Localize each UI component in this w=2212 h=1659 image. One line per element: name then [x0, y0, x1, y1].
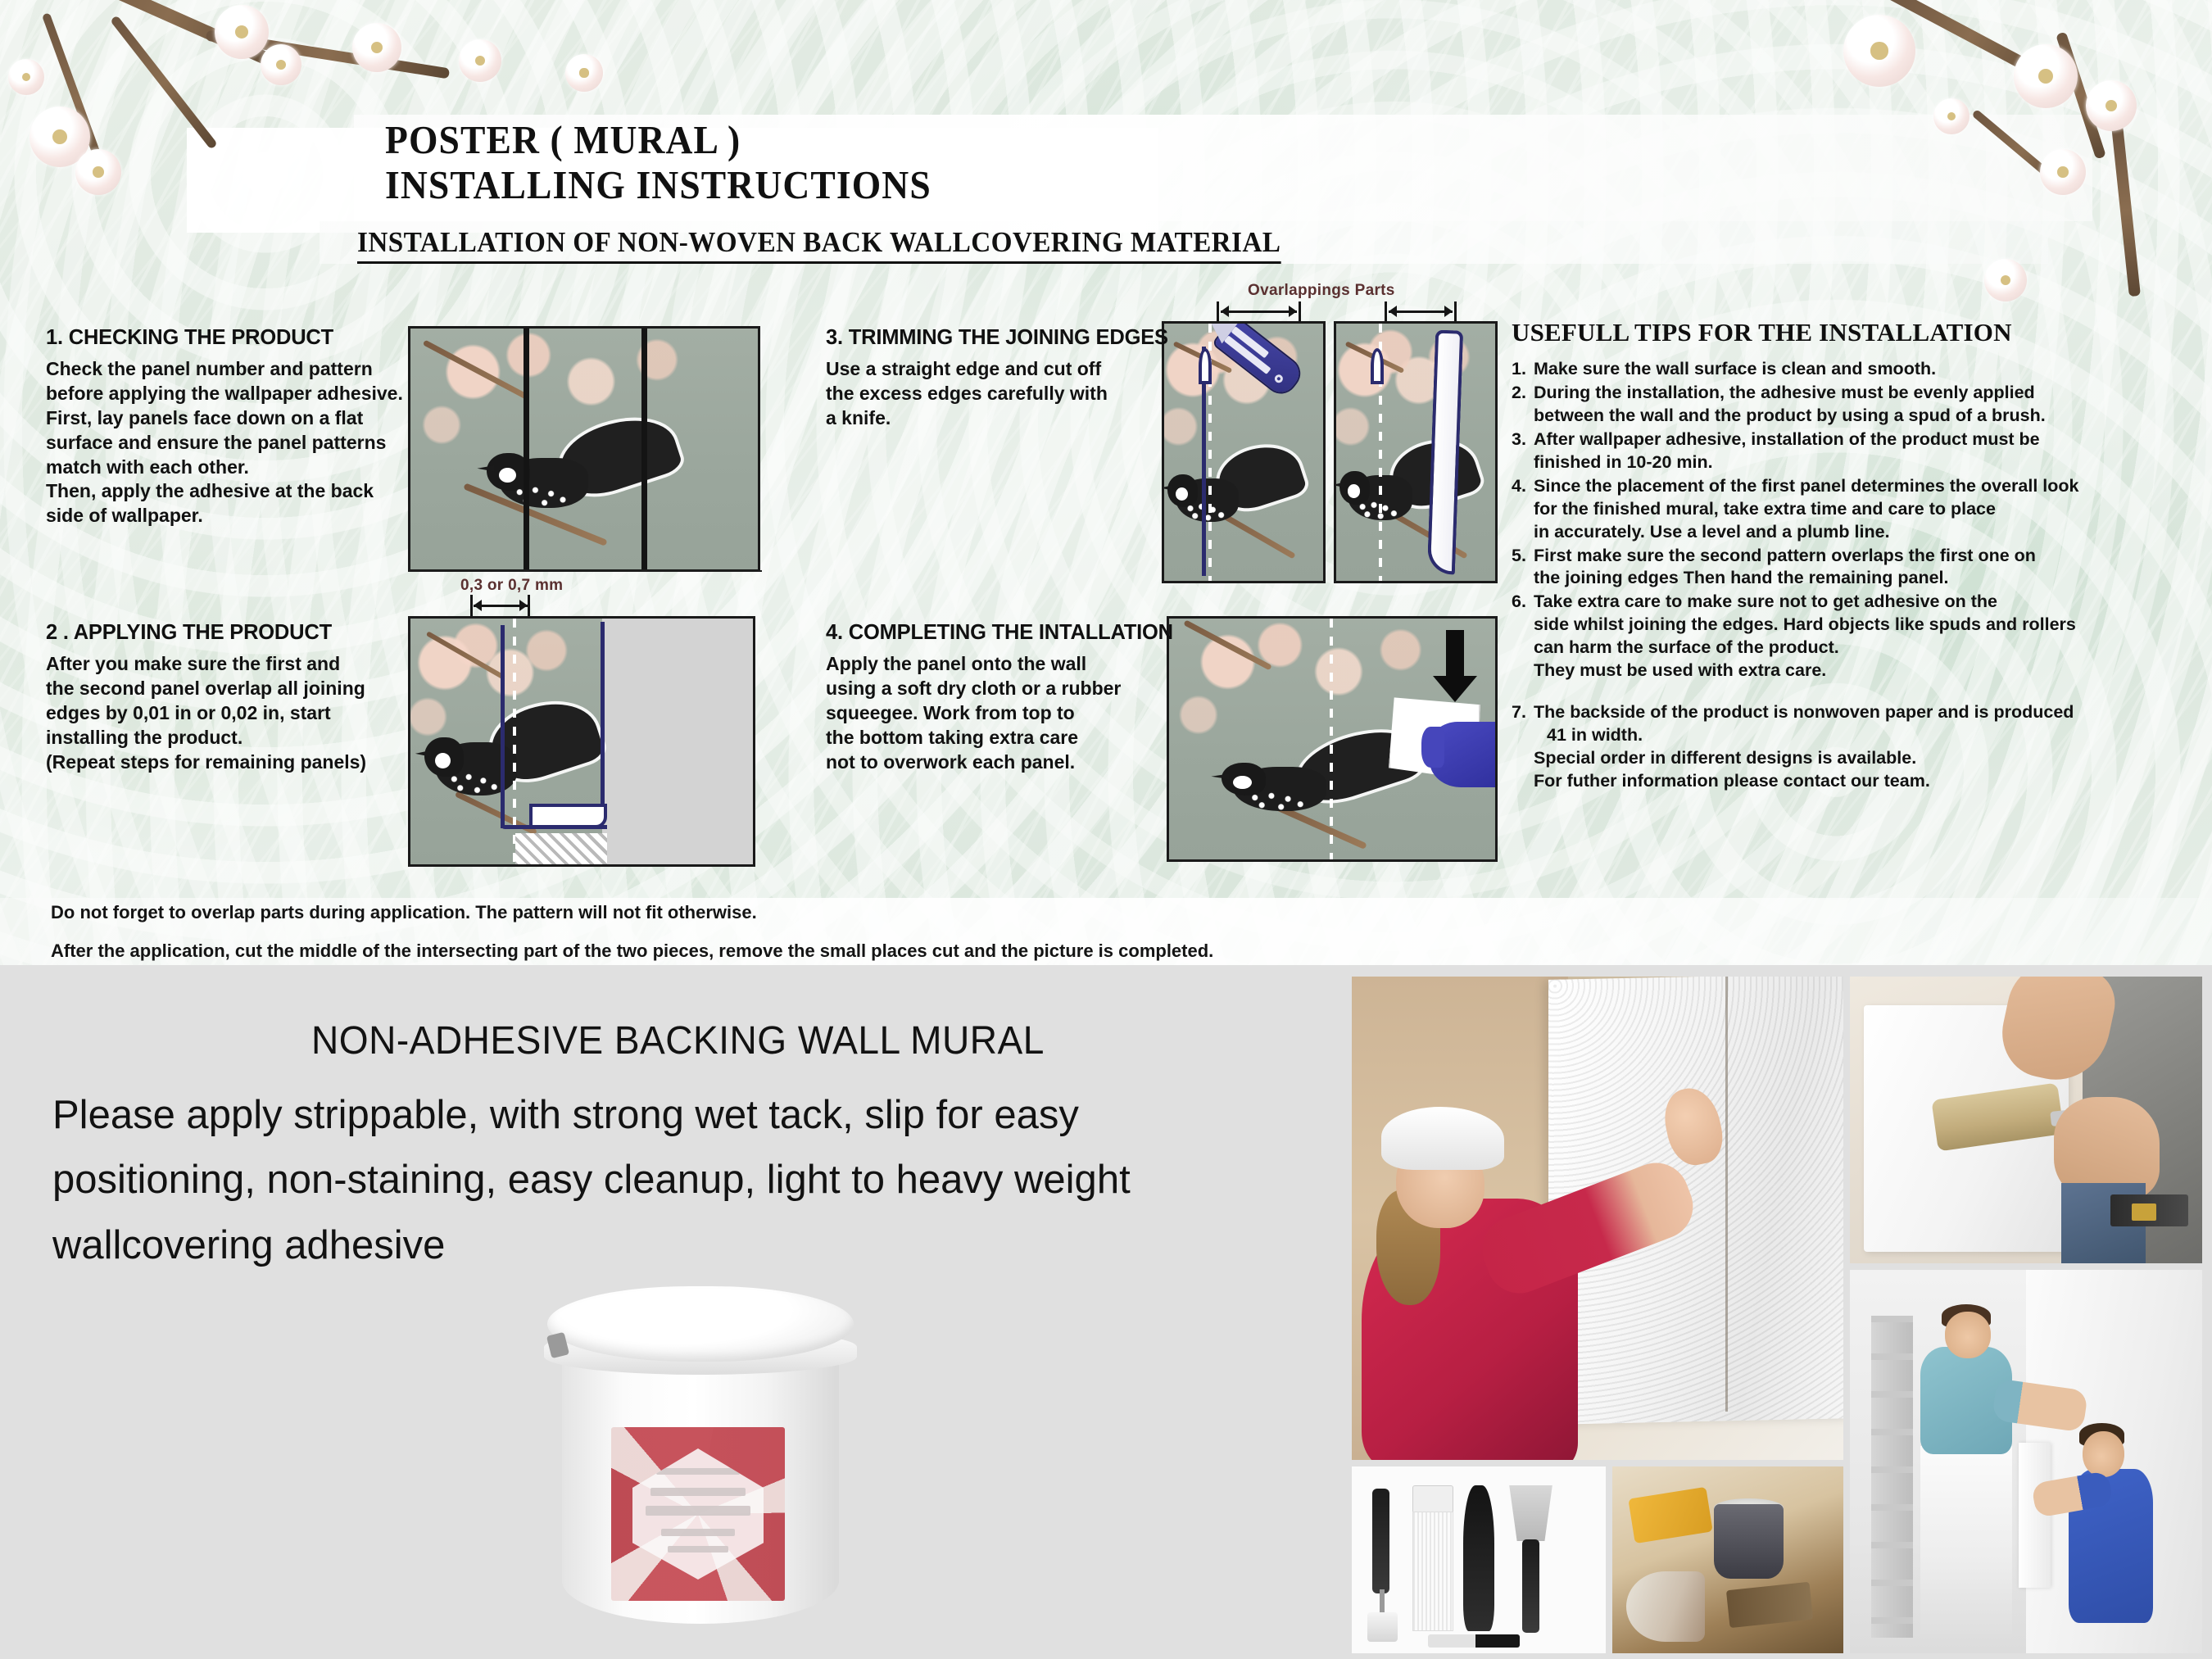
tip-5-line-2: the joining edges Then hand the remainin…: [1534, 567, 2036, 590]
tip-7-text: The backside of the product is nonwoven …: [1534, 701, 2074, 793]
hatching-area: [515, 833, 607, 866]
tip-7-line-4: For futher information please contact ou…: [1534, 770, 2074, 793]
tip-5-line-1: First make sure the second pattern overl…: [1534, 545, 2036, 568]
step-1-line-6: Then, apply the adhesive at the back: [46, 479, 403, 504]
ruler-top-curve-a: [1199, 348, 1212, 384]
step-1-block: 1. CHECKING THE PRODUCT Check the panel …: [46, 326, 403, 528]
bucket-lid: [547, 1286, 854, 1362]
step-4-body: Apply the panel onto the wall using a so…: [826, 652, 1173, 774]
step-1-line-7: side of wallpaper.: [46, 504, 403, 528]
overlap-tick-b: [1299, 301, 1301, 321]
cut-dash-line-4: [1330, 619, 1333, 859]
tip-1-text: Make sure the wall surface is clean and …: [1534, 358, 1936, 381]
title-line-2: INSTALLING INSTRUCTIONS: [385, 163, 931, 208]
step-3-diagram-straightedge: [1334, 321, 1498, 583]
step-4-title: 4. COMPLETING THE INTALLATION: [826, 621, 1173, 645]
tip-4-line-3: in accurately. Use a level and a plumb l…: [1534, 521, 2078, 544]
photo-man-and-boy-hanging-wallpaper: [1850, 1270, 2202, 1653]
overlap-outline-right: [601, 622, 605, 804]
overlap-lip: [529, 804, 607, 828]
step-2-block: 2 . APPLYING THE PRODUCT After you make …: [46, 621, 366, 774]
step-4-line-2: using a soft dry cloth or a rubber: [826, 677, 1173, 701]
tip-6-line-3: can harm the surface of the product.: [1534, 637, 2076, 660]
tip-item-1: 1. Make sure the wall surface is clean a…: [1512, 358, 2167, 381]
step-4-line-5: not to overwork each panel.: [826, 750, 1173, 775]
step-2-title: 2 . APPLYING THE PRODUCT: [46, 621, 366, 645]
title-line-1: POSTER ( MURAL ): [385, 118, 931, 163]
installation-poster: POSTER ( MURAL ) INSTALLING INSTRUCTIONS…: [0, 0, 2212, 1659]
tip-3-text: After wallpaper adhesive, installation o…: [1534, 428, 2040, 474]
tip-6-line-1: Take extra care to make sure not to get …: [1534, 591, 2076, 614]
seam-roller-icon: [1372, 1489, 1390, 1593]
step-1-title: 1. CHECKING THE PRODUCT: [46, 326, 403, 350]
adhesive-bucket-image: [541, 1286, 860, 1630]
seam-roller-wheel: [1367, 1612, 1398, 1642]
step-3-line-3: a knife.: [826, 406, 1168, 431]
tip-4-line-2: for the finished mural, take extra time …: [1534, 498, 2078, 521]
measure-tick-left: [470, 595, 473, 616]
step-3-body: Use a straight edge and cut off the exce…: [826, 357, 1168, 431]
plastic-smoother-icon: [1463, 1485, 1494, 1631]
smoothing-brush-bristles: [1412, 1512, 1453, 1631]
down-arrow-icon: [1446, 630, 1464, 681]
step-3-title: 3. TRIMMING THE JOINING EDGES: [826, 326, 1168, 350]
bird-artwork-3: [1167, 442, 1304, 550]
step-1-line-3: First, lay panels face down on a flat: [46, 406, 403, 431]
overlap-tick-d: [1454, 301, 1457, 321]
snap-off-knife-icon: [1428, 1634, 1520, 1648]
tip-6-text: Take extra care to make sure not to get …: [1534, 591, 2076, 682]
glove-thumb: [1421, 727, 1444, 768]
step-4-block: 4. COMPLETING THE INTALLATION Apply the …: [826, 621, 1173, 774]
tip-7-line-2: 41 in width.: [1534, 724, 2074, 747]
footnote-2: After the application, cut the middle of…: [51, 941, 1213, 962]
tip-5-number: 5.: [1512, 545, 1534, 591]
photo-roller-applying-adhesive: [1850, 977, 2202, 1263]
measure-arrow: [474, 605, 528, 607]
step-3-block: 3. TRIMMING THE JOINING EDGES Use a stra…: [826, 326, 1168, 431]
poster-subtitle: INSTALLATION OF NON-WOVEN BACK WALLCOVER…: [357, 226, 1281, 264]
step-1-line-1: Check the panel number and pattern: [46, 357, 403, 382]
step-2-line-5: (Repeat steps for remaining panels): [46, 750, 366, 775]
overlap-measure-label: 0,3 or 0,7 mm: [460, 577, 563, 595]
bottom-heading: NON-ADHESIVE BACKING WALL MURAL: [311, 1018, 1045, 1063]
bird-artwork: [487, 415, 681, 541]
overlapping-parts-label: Ovarlappings Parts: [1248, 282, 1395, 300]
tip-4-text: Since the placement of the first panel d…: [1534, 475, 2078, 544]
photo-woman-hanging-wallpaper: [1352, 977, 1843, 1460]
tip-1-number: 1.: [1512, 358, 1534, 381]
measure-baseline: [410, 570, 762, 572]
tip-3-number: 3.: [1512, 428, 1534, 474]
step-4-diagram-squeegee: [1167, 616, 1498, 862]
tip-6-number: 6.: [1512, 591, 1534, 682]
useful-tips-panel: USEFULL TIPS FOR THE INSTALLATION 1. Mak…: [1512, 318, 2167, 794]
photo-tools-on-table: [1612, 1466, 1843, 1653]
step-3-diagram-knife: [1162, 321, 1326, 583]
step-1-diagram-panels: [408, 326, 760, 572]
tip-3-line-1: After wallpaper adhesive, installation o…: [1534, 428, 2040, 451]
tip-4-number: 4.: [1512, 475, 1534, 544]
step-2-line-3: edges by 0,01 in or 0,02 in, start: [46, 701, 366, 726]
panel-divider-1: [524, 329, 529, 569]
tip-4-line-1: Since the placement of the first panel d…: [1534, 475, 2078, 498]
bottom-para-line-2: positioning, non-staining, easy cleanup,…: [52, 1148, 1330, 1213]
step-1-line-4: surface and ensure the panel patterns: [46, 431, 403, 456]
overlap-tick-a: [1217, 301, 1219, 321]
step-3-line-2: the excess edges carefully with: [826, 382, 1168, 406]
overlap-outline-vertical: [501, 625, 505, 828]
down-arrow-head: [1433, 676, 1477, 702]
bottom-paragraph: Please apply strippable, with strong wet…: [52, 1083, 1330, 1278]
tip-item-7: 7. The backside of the product is nonwov…: [1512, 701, 2167, 793]
step-2-body: After you make sure the first and the se…: [46, 652, 366, 774]
tip-item-4: 4. Since the placement of the first pane…: [1512, 475, 2167, 544]
putty-knife-blade: [1509, 1485, 1552, 1541]
tip-7-line-1: The backside of the product is nonwoven …: [1534, 701, 2074, 724]
step-2-line-4: installing the product.: [46, 726, 366, 750]
step-3-line-1: Use a straight edge and cut off: [826, 357, 1168, 382]
overlap-arrow-right: [1389, 310, 1453, 313]
overlap-arrow-left: [1221, 310, 1297, 313]
step-1-body: Check the panel number and pattern befor…: [46, 357, 403, 528]
overlap-tick-c: [1385, 301, 1387, 321]
step-4-line-1: Apply the panel onto the wall: [826, 652, 1173, 677]
footnote-1: Do not forget to overlap parts during ap…: [51, 902, 757, 923]
step-2-diagram-overlap: [408, 616, 755, 867]
tip-item-2: 2. During the installation, the adhesive…: [1512, 382, 2167, 428]
step-1-line-2: before applying the wallpaper adhesive.: [46, 382, 403, 406]
tip-5-text: First make sure the second pattern overl…: [1534, 545, 2036, 591]
tip-item-3: 3. After wallpaper adhesive, installatio…: [1512, 428, 2167, 474]
tips-spacer: [1512, 683, 2167, 701]
ruler-top-curve-b: [1371, 348, 1384, 384]
step-4-line-4: the bottom taking extra care: [826, 726, 1173, 750]
step-1-line-5: match with each other.: [46, 456, 403, 480]
tip-7-line-3: Special order in different designs is av…: [1534, 747, 2074, 770]
step-4-line-3: squeegee. Work from top to: [826, 701, 1173, 726]
putty-knife-handle: [1522, 1539, 1540, 1633]
bottom-para-line-3: wallcovering adhesive: [52, 1213, 1330, 1278]
tip-2-line-2: between the wall and the product by usin…: [1534, 405, 2046, 428]
step-2-line-1: After you make sure the first and: [46, 652, 366, 677]
tip-6-line-2: side whilst joining the edges. Hard obje…: [1534, 614, 2076, 637]
installation-photo-grid: [1352, 977, 2202, 1653]
tip-1-line-1: Make sure the wall surface is clean and …: [1534, 358, 1936, 381]
tip-3-line-2: finished in 10-20 min.: [1534, 451, 2040, 474]
tip-item-6: 6. Take extra care to make sure not to g…: [1512, 591, 2167, 682]
step-2-line-2: the second panel overlap all joining: [46, 677, 366, 701]
poster-title: POSTER ( MURAL ) INSTALLING INSTRUCTIONS: [385, 118, 972, 208]
tip-2-number: 2.: [1512, 382, 1534, 428]
tips-title: USEFULL TIPS FOR THE INSTALLATION: [1512, 318, 2167, 347]
tip-6-line-4: They must be used with extra care.: [1534, 660, 2076, 682]
photo-wallpaper-tool-set: [1352, 1466, 1606, 1653]
tip-item-5: 5. First make sure the second pattern ov…: [1512, 545, 2167, 591]
tip-2-line-1: During the installation, the adhesive mu…: [1534, 382, 2046, 405]
tip-2-text: During the installation, the adhesive mu…: [1534, 382, 2046, 428]
tip-7-number: 7.: [1512, 701, 1534, 793]
panel-divider-2: [641, 329, 647, 569]
measure-tick-right: [528, 595, 530, 616]
bottom-para-line-1: Please apply strippable, with strong wet…: [52, 1083, 1330, 1148]
